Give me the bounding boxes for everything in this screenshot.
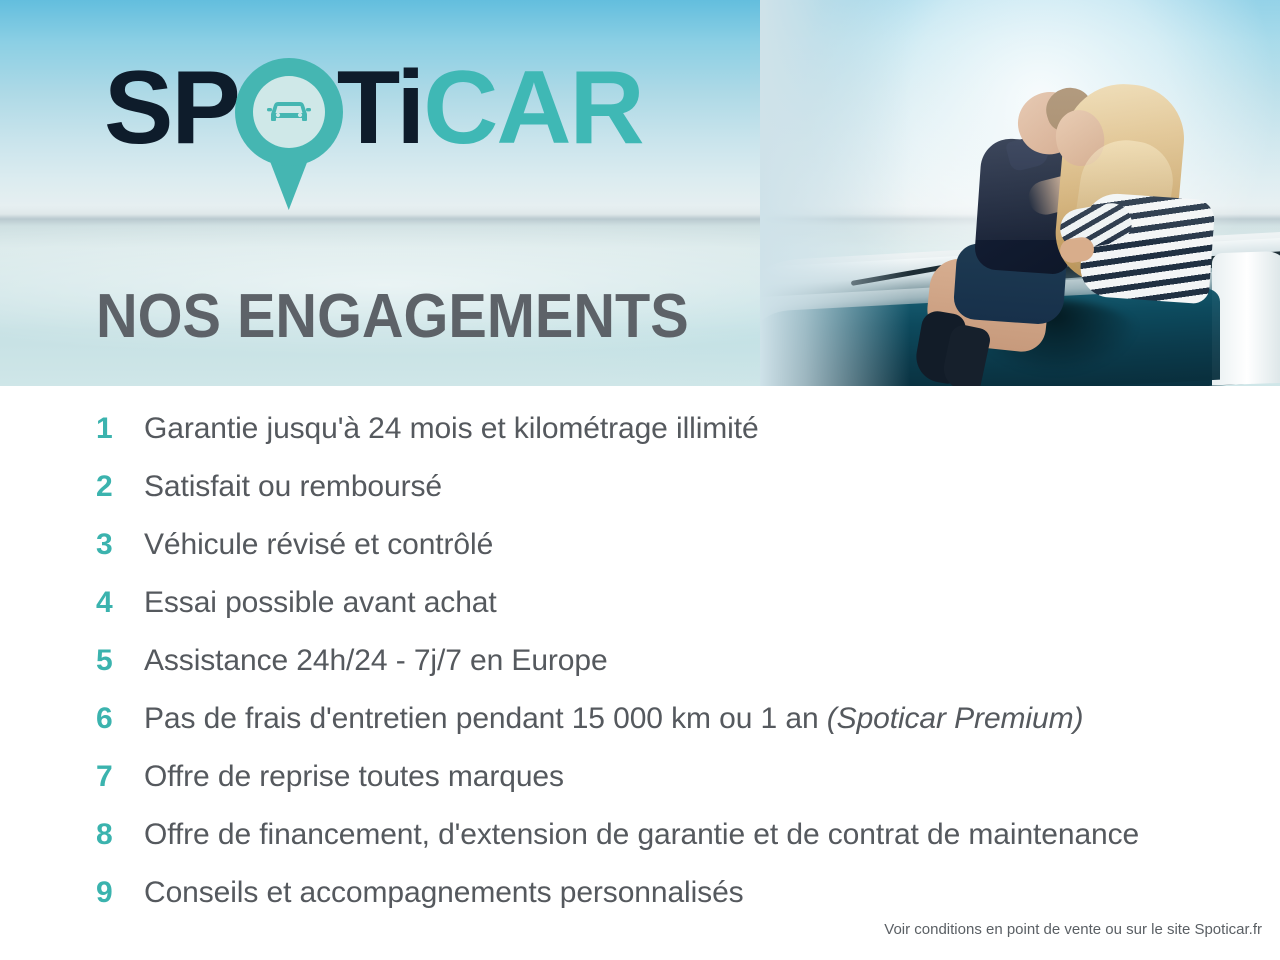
logo-text-car: CAR bbox=[423, 56, 642, 160]
list-item: 7 Offre de reprise toutes marques bbox=[96, 760, 1256, 818]
list-item-label: Véhicule révisé et contrôlé bbox=[144, 528, 493, 562]
list-item-number: 3 bbox=[96, 528, 144, 562]
list-item-label: Offre de reprise toutes marques bbox=[144, 760, 564, 794]
list-item: 3 Véhicule révisé et contrôlé bbox=[96, 528, 1256, 586]
list-item-label: Offre de financement, d'extension de gar… bbox=[144, 818, 1139, 852]
list-item: 4 Essai possible avant achat bbox=[96, 586, 1256, 644]
car-pillar-shape bbox=[1212, 251, 1280, 386]
logo-text-ti: Ti bbox=[337, 56, 424, 160]
list-item-label: Essai possible avant achat bbox=[144, 586, 497, 620]
list-item-number: 8 bbox=[96, 818, 144, 852]
list-item-label: Assistance 24h/24 - 7j/7 en Europe bbox=[144, 644, 608, 678]
spoticar-logo: SP Ti CAR bbox=[104, 56, 643, 166]
list-item-number: 6 bbox=[96, 702, 144, 736]
list-item-label: Pas de frais d'entretien pendant 15 000 … bbox=[144, 702, 1083, 736]
list-item-text-main: Pas de frais d'entretien pendant 15 000 … bbox=[144, 702, 827, 735]
legal-footnote: Voir conditions en point de vente ou sur… bbox=[884, 921, 1262, 938]
logo-text-sp: SP bbox=[104, 56, 239, 160]
commitments-list: 1 Garantie jusqu'à 24 mois et kilométrag… bbox=[96, 412, 1256, 934]
list-item-number: 5 bbox=[96, 644, 144, 678]
list-item-label: Garantie jusqu'à 24 mois et kilométrage … bbox=[144, 412, 759, 446]
photo-left-blend-overlay bbox=[760, 0, 910, 386]
list-item: 6 Pas de frais d'entretien pendant 15 00… bbox=[96, 702, 1256, 760]
list-item-number: 1 bbox=[96, 412, 144, 446]
list-item-label: Satisfait ou remboursé bbox=[144, 470, 442, 504]
woman-and-child-on-car-roof-photo bbox=[760, 0, 1280, 386]
list-item: 2 Satisfait ou remboursé bbox=[96, 470, 1256, 528]
map-pin-car-icon bbox=[235, 58, 343, 216]
list-item-label: Conseils et accompagnements personnalisé… bbox=[144, 876, 744, 910]
list-item-number: 2 bbox=[96, 470, 144, 504]
page-title: NOS ENGAGEMENTS bbox=[96, 283, 689, 351]
spoticar-commitments-poster: SP Ti CAR NOS ENGAGEMENTS bbox=[0, 0, 1280, 960]
list-item-number: 7 bbox=[96, 760, 144, 794]
list-item-text-emphasis: (Spoticar Premium) bbox=[827, 702, 1084, 735]
car-glyph-icon bbox=[265, 96, 313, 126]
list-item-number: 9 bbox=[96, 876, 144, 910]
list-item: 1 Garantie jusqu'à 24 mois et kilométrag… bbox=[96, 412, 1256, 470]
list-item: 5 Assistance 24h/24 - 7j/7 en Europe bbox=[96, 644, 1256, 702]
list-item: 8 Offre de financement, d'extension de g… bbox=[96, 818, 1256, 876]
hero-banner: SP Ti CAR NOS ENGAGEMENTS bbox=[0, 0, 1280, 386]
list-item-number: 4 bbox=[96, 586, 144, 620]
